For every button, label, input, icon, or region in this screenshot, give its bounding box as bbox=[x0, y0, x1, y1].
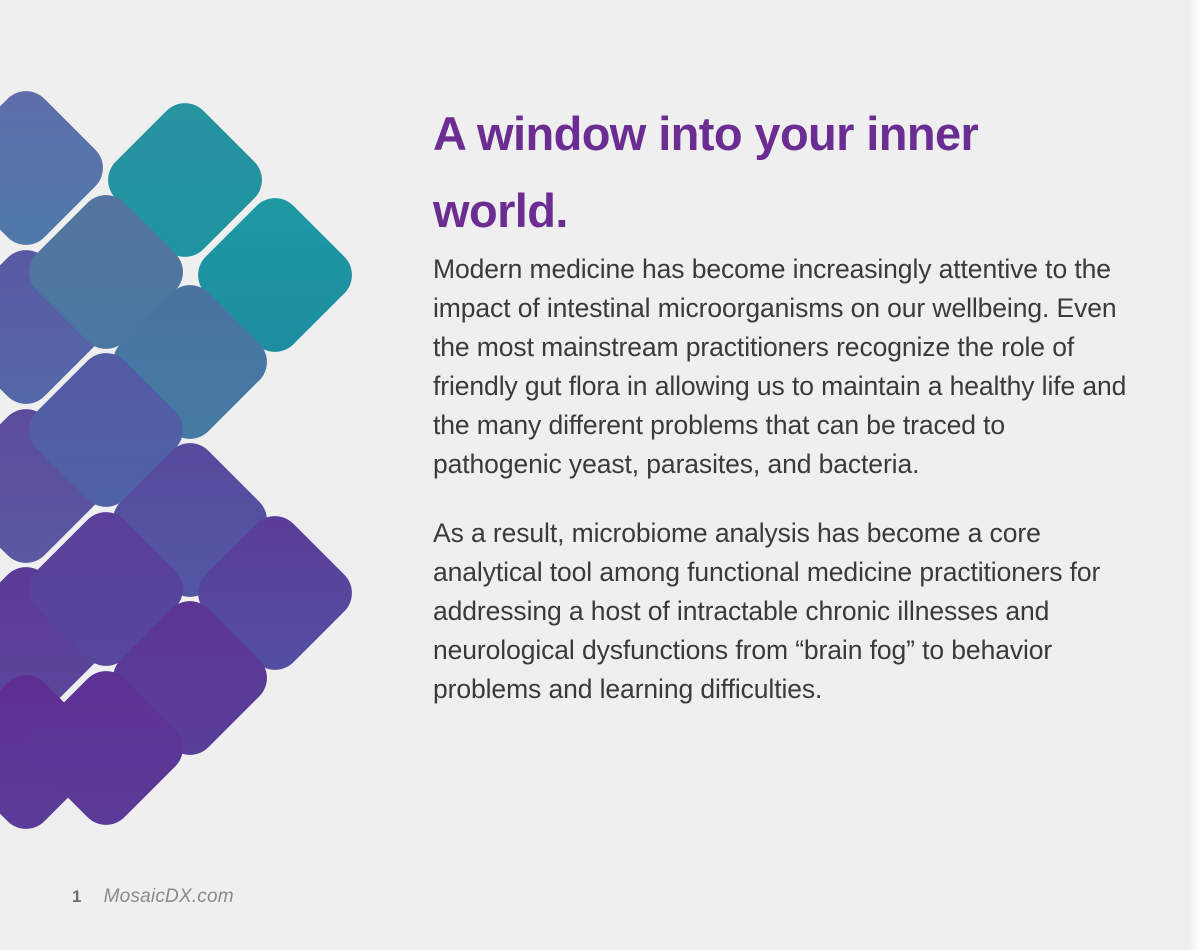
page-title: A window into your inner world. bbox=[433, 96, 1053, 249]
body-paragraph: Modern medicine has become increasingly … bbox=[433, 250, 1133, 484]
body-paragraph: As a result, microbiome analysis has bec… bbox=[433, 514, 1133, 709]
footer-brand: MosaicDX.com bbox=[104, 886, 234, 908]
report-page: A window into your inner world. Modern m… bbox=[0, 0, 1200, 950]
page-edge-highlight bbox=[1188, 0, 1200, 950]
content-column: A window into your inner world. Modern m… bbox=[433, 0, 1133, 950]
body-copy: Modern medicine has become increasingly … bbox=[433, 250, 1133, 709]
footer-page-number: 1 bbox=[72, 887, 82, 907]
page-footer: 1 MosaicDX.com bbox=[72, 886, 234, 908]
diamond-mosaic-graphic bbox=[0, 0, 380, 950]
